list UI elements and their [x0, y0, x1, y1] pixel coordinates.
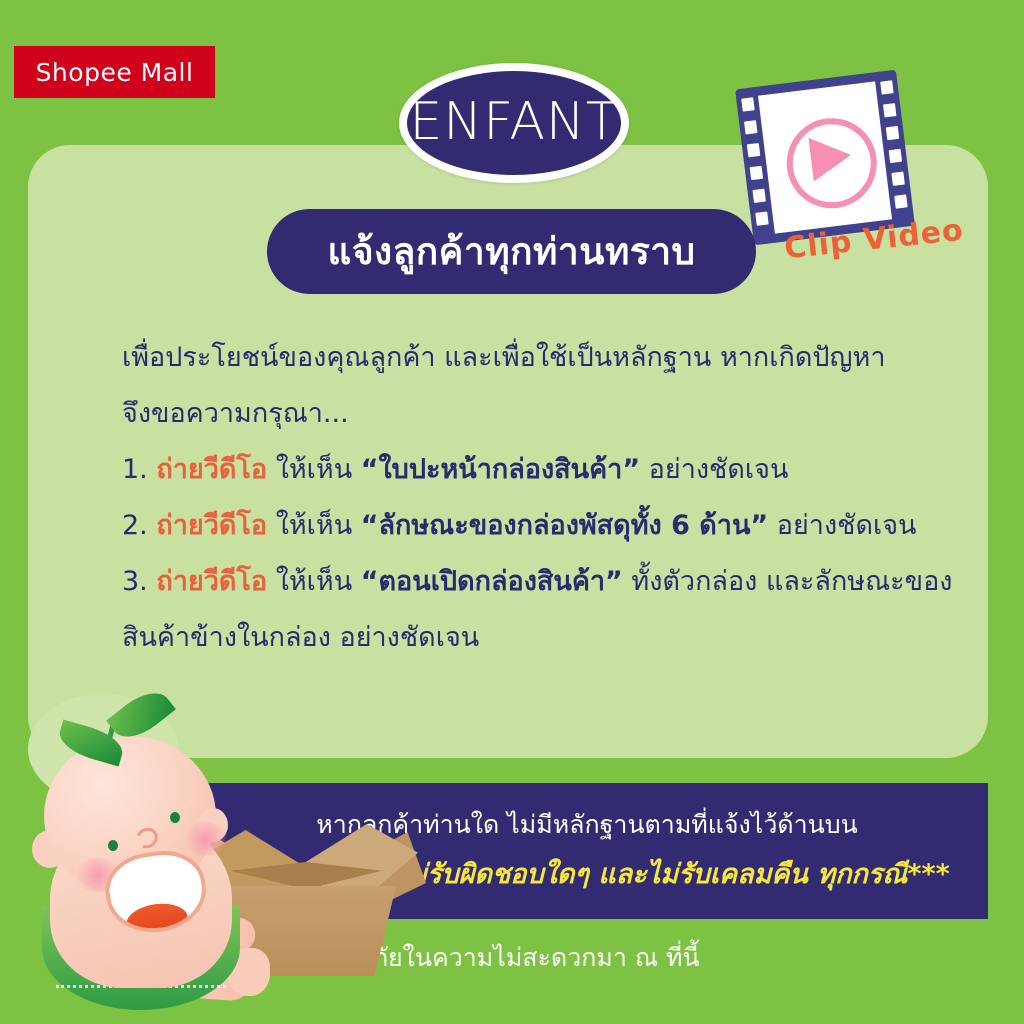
- list-item-tail: อย่างชัดเจน: [640, 454, 788, 485]
- instructions-block: เพื่อประโยชน์ของคุณลูกค้า และเพื่อใช้เป็…: [122, 330, 1002, 666]
- shopee-mall-label: Shopee Mall: [36, 58, 194, 87]
- intro-line-2: จึงขอความกรุณา...: [122, 386, 1002, 442]
- intro-line-1: เพื่อประโยชน์ของคุณลูกค้า และเพื่อใช้เป็…: [122, 330, 1002, 386]
- list-item-number: 2.: [122, 510, 148, 541]
- film-perforation: [886, 126, 899, 140]
- list-item-continuation: สินค้าข้างในกล่อง อย่างชัดเจน: [122, 610, 1002, 666]
- shopee-mall-badge: Shopee Mall: [14, 46, 215, 98]
- list-item: 2. ถ่ายวีดีโอ ให้เห็น “ลักษณะของกล่องพัส…: [122, 498, 1002, 554]
- mascot-eye-right: [170, 812, 180, 823]
- film-perforation: [894, 194, 907, 208]
- page-title-text: แจ้งลูกค้าทุกท่านทราบ: [328, 222, 696, 281]
- list-item-action: ถ่ายวีดีโอ: [156, 510, 267, 541]
- mascot-nose: [133, 824, 161, 851]
- list-item: 3. ถ่ายวีดีโอ ให้เห็น “ตอนเปิดกล่องสินค้…: [122, 554, 1002, 610]
- mascot-eye-left: [108, 840, 118, 851]
- enfant-logo: ENFANT: [399, 63, 629, 183]
- list-item-quote: “ตอนเปิดกล่องสินค้า”: [361, 566, 623, 597]
- film-perforation: [750, 166, 763, 180]
- film-perforation: [883, 103, 896, 117]
- film-strip-icon: [735, 70, 915, 246]
- film-perforation: [755, 211, 768, 225]
- logo-wordmark: ENFANT: [399, 63, 629, 183]
- play-triangle-icon: [808, 132, 853, 181]
- list-item-number: 1.: [122, 454, 148, 485]
- list-item-action: ถ่ายวีดีโอ: [156, 454, 267, 485]
- list-item-tail: อย่างชัดเจน: [768, 510, 916, 541]
- list-item-lead: ให้เห็น: [267, 454, 361, 485]
- baby-mascot-illustration: [28, 700, 388, 1024]
- list-item-number: 3.: [122, 566, 148, 597]
- film-perforation: [889, 149, 902, 163]
- poster-canvas: Shopee Mall ENFANT Clip Video แจ้งลูกค้า…: [0, 0, 1024, 1024]
- list-item-action: ถ่ายวีดีโอ: [156, 566, 267, 597]
- list-item-quote: “ใบปะหน้ากล่องสินค้า”: [361, 454, 640, 485]
- film-perforation: [891, 172, 904, 186]
- list-item-quote: “ลักษณะของกล่องพัสดุทั้ง 6 ด้าน”: [361, 510, 768, 541]
- mascot-head: [44, 736, 216, 896]
- list-item-tail: ทั้งตัวกล่อง และลักษณะของ: [623, 566, 953, 597]
- film-perforation: [744, 120, 757, 134]
- mascot-cheek-right: [182, 822, 230, 856]
- film-perforation: [752, 189, 765, 203]
- list-item-lead: ให้เห็น: [267, 510, 361, 541]
- list-item-lead: ให้เห็น: [267, 566, 361, 597]
- page-title: แจ้งลูกค้าทุกท่านทราบ: [267, 209, 756, 294]
- film-perforation: [741, 97, 754, 111]
- list-item: 1. ถ่ายวีดีโอ ให้เห็น “ใบปะหน้ากล่องสินค…: [122, 442, 1002, 498]
- film-perforation: [747, 143, 760, 157]
- film-perforation: [880, 80, 893, 94]
